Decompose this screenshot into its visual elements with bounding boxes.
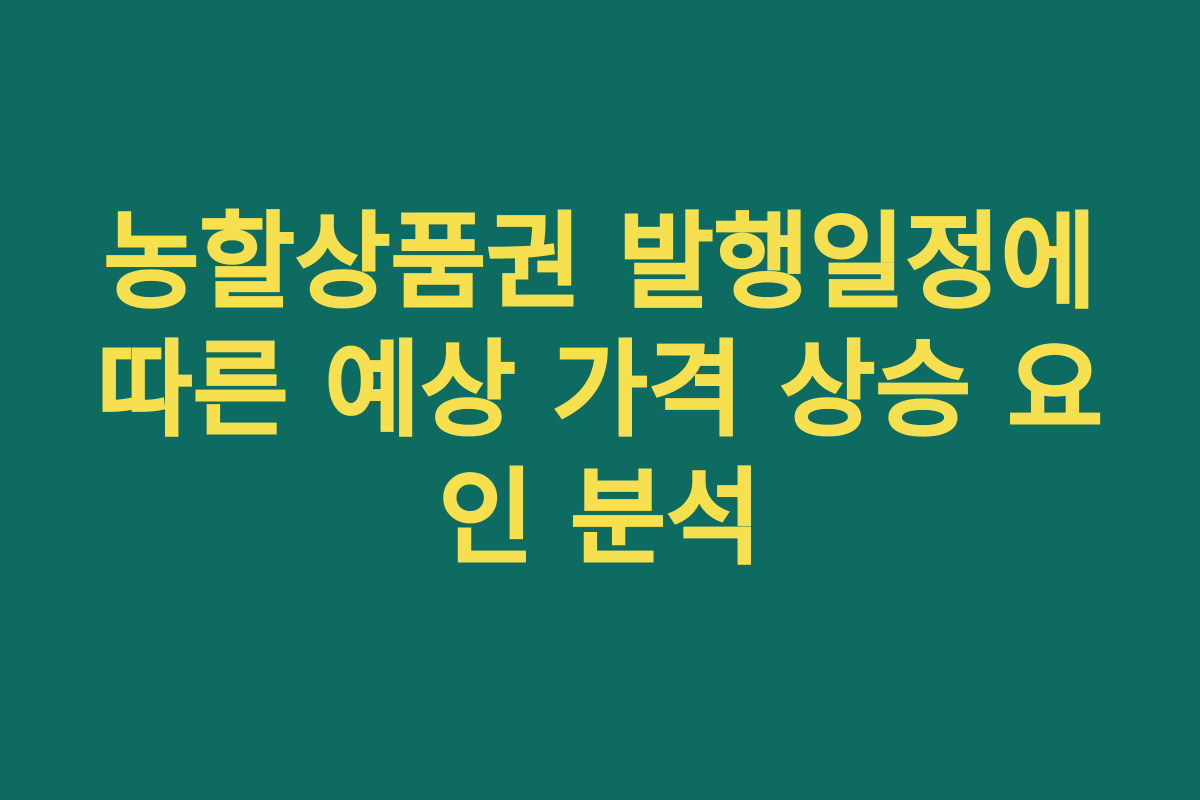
headline-line-3: 인 분석 — [95, 454, 1105, 582]
headline-line-1: 농할상품권 발행일정에 — [95, 198, 1105, 326]
headline-line-2: 따른 예상 가격 상승 요 — [95, 326, 1105, 454]
title-card: 농할상품권 발행일정에 따른 예상 가격 상승 요 인 분석 — [0, 0, 1200, 800]
page-title: 농할상품권 발행일정에 따른 예상 가격 상승 요 인 분석 — [95, 198, 1105, 582]
headline-block: 농할상품권 발행일정에 따른 예상 가격 상승 요 인 분석 — [95, 198, 1105, 582]
